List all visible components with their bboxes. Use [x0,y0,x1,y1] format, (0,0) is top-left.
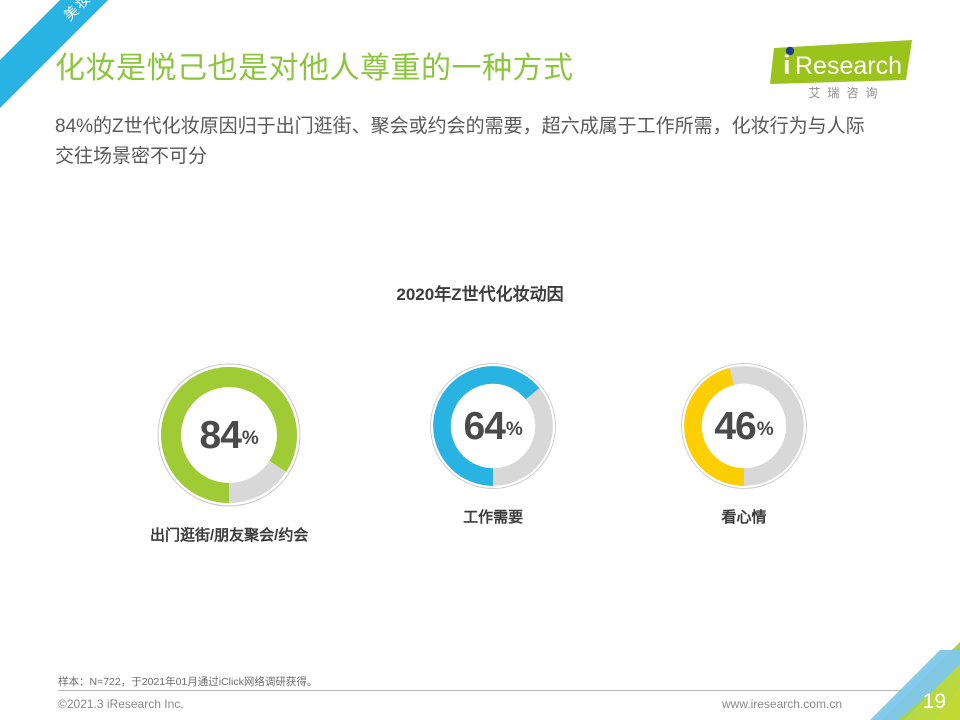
donut-value: 46 [714,407,755,446]
donut-category-label: 出门逛街/朋友聚会/约会 [150,524,308,545]
chart-title: 2020年Z世代化妆动因 [0,280,960,305]
page-title: 化妆是悦己也是对他人尊重的一种方式 [55,50,574,88]
donut-item: 46 % 看心情 [678,360,810,527]
page-number: 19 [923,690,946,714]
logo-mark-icon: i Research [768,40,918,86]
donut-category-label: 看心情 [721,506,766,527]
source-note: 样本：N=722，于2021年01月通过iClick网络调研获得。 [58,674,317,689]
website-url[interactable]: www.iresearch.com.cn [722,697,842,711]
donut-chart-0: 84 % [154,360,304,510]
donut-center-label: 64 % [427,360,559,492]
corner-decoration: 19 [852,628,960,720]
donut-center-label: 46 % [678,360,810,492]
donut-value: 84 [200,416,241,455]
donut-percent-sign: % [757,419,774,441]
svg-text:Research: Research [795,52,902,80]
donut-percent-sign: % [506,419,523,441]
donut-chart-2: 46 % [678,360,810,492]
footer-divider [58,690,904,691]
donut-category-label: 工作需要 [463,506,523,527]
donut-percent-sign: % [242,428,259,450]
page-subtitle: 84%的Z世代化妆原因归于出门逛街、聚会或约会的需要，超六成属于工作所需，化妆行… [55,112,875,172]
slide-canvas: 美妆 化妆是悦己也是对他人尊重的一种方式 84%的Z世代化妆原因归于出门逛街、聚… [0,0,960,720]
donut-item: 64 % 工作需要 [427,360,559,527]
svg-text:i: i [783,50,791,80]
donut-chart-group: 84 % 出门逛街/朋友聚会/约会 64 % 工作需要 [150,360,810,545]
copyright-text: ©2021.3 iResearch Inc. [58,697,184,711]
donut-item: 84 % 出门逛街/朋友聚会/约会 [150,360,308,545]
logo-chinese-name: 艾瑞咨询 [776,84,910,101]
donut-chart-1: 64 % [427,360,559,492]
iresearch-logo: i Research 艾瑞咨询 [768,40,918,106]
donut-center-label: 84 % [154,360,304,510]
donut-value: 64 [464,407,505,446]
